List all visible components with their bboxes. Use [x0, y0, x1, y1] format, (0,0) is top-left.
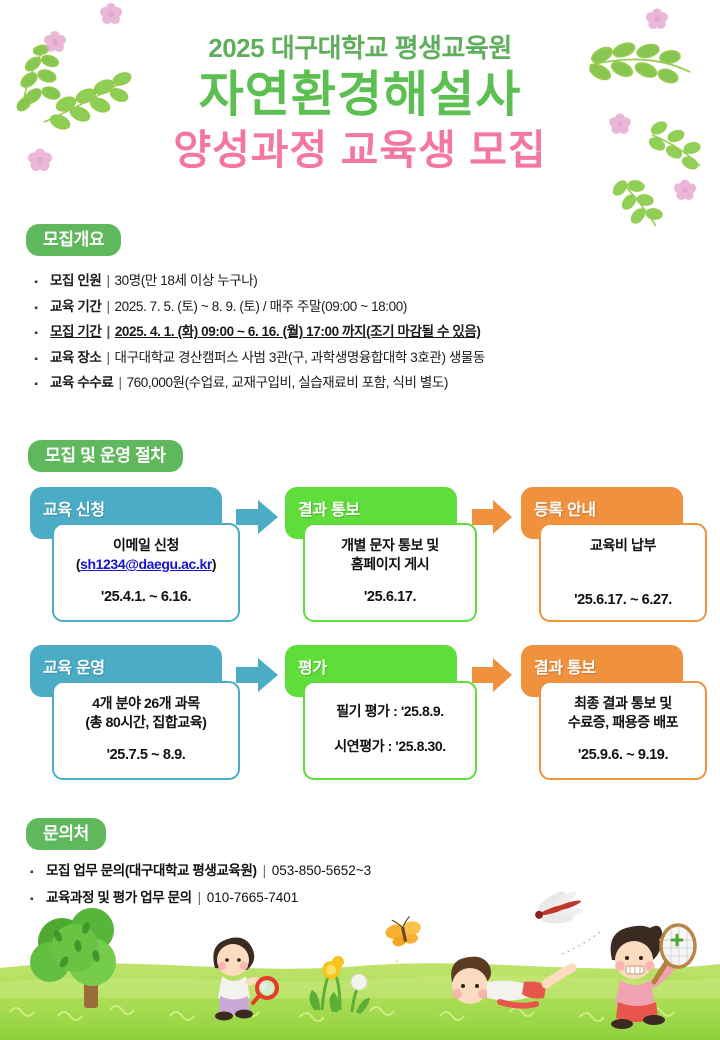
- overview-value: 대구대학교 경산캠퍼스 사범 3관(구, 과학생명융합대학 3호관) 생물동: [115, 349, 485, 367]
- arrow-right-icon-1: [236, 500, 278, 534]
- contact-label: 모집 업무 문의(대구대학교 평생교육원): [46, 862, 257, 880]
- process-step-line: 최종 결과 통보 및: [547, 694, 699, 713]
- overview-label: 교육 기간: [50, 298, 101, 316]
- process-step-body: 교육비 납부 '25.6.17. ~ 6.27.: [539, 523, 707, 622]
- overview-item-capacity: ▪ 모집 인원 | 30명(만 18세 이상 누구나): [22, 272, 702, 290]
- section-header-overview: 모집개요: [26, 224, 121, 256]
- paren-close: ): [212, 556, 216, 572]
- overview-separator: |: [106, 349, 109, 367]
- process-step-body: 이메일 신청 (sh1234@daegu.ac.kr) '25.4.1. ~ 6…: [52, 523, 240, 622]
- title-main-line: 자연환경해설사: [0, 67, 720, 123]
- arrow-right-icon-3: [236, 658, 278, 692]
- overview-separator: |: [118, 374, 121, 392]
- overview-label: 모집 기간: [50, 323, 101, 341]
- process-step-result-notice: 결과 통보 개별 문자 통보 및 홈페이지 게시 '25.6.17.: [285, 487, 457, 622]
- contact-separator: |: [263, 862, 266, 880]
- overview-item-application-period: ▪ 모집 기간 | 2025. 4. 1. (화) 09:00 ~ 6. 16.…: [22, 323, 702, 341]
- process-step-body: 4개 분야 26개 과목 (총 80시간, 집합교육) '25.7.5 ~ 8.…: [52, 681, 240, 780]
- process-step-dates: '25.7.5 ~ 8.9.: [60, 746, 232, 766]
- overview-label: 모집 인원: [50, 272, 101, 290]
- title-subtitle: 2025 대구대학교 평생교육원: [0, 34, 720, 63]
- overview-separator: |: [106, 323, 109, 341]
- process-step-email-line: (sh1234@daegu.ac.kr): [60, 555, 232, 574]
- arrow-right-icon-2: [472, 500, 512, 534]
- overview-item-fee: ▪ 교육 수수료 | 760,000원(수업료, 교재구입비, 실습재료비 포함…: [22, 374, 702, 392]
- dragonfly-trail: [562, 932, 600, 954]
- contact-phone: 010-7665-7401: [207, 889, 299, 907]
- process-step-line: 4개 분야 26개 과목: [60, 694, 232, 713]
- arrow-right-icon-4: [472, 658, 512, 692]
- contact-item-curriculum: ▪ 교육과정 및 평가 업무 문의 | 010-7665-7401: [30, 889, 371, 907]
- overview-list: ▪ 모집 인원 | 30명(만 18세 이상 누구나) ▪ 교육 기간 | 20…: [22, 272, 702, 400]
- process-step-line: 필기 평가 : '25.8.9.: [311, 702, 469, 721]
- bullet-icon: ▪: [22, 378, 50, 391]
- process-step-dates: '25.6.17.: [311, 588, 469, 608]
- bullet-icon: ▪: [22, 276, 50, 289]
- overview-value: 760,000원(수업료, 교재구입비, 실습재료비 포함, 식비 별도): [127, 374, 448, 392]
- bullet-icon: ▪: [22, 302, 50, 315]
- contact-list: ▪ 모집 업무 문의(대구대학교 평생교육원) | 053-850-5652~3…: [30, 862, 371, 915]
- overview-value: 2025. 4. 1. (화) 09:00 ~ 6. 16. (월) 17:00…: [115, 323, 481, 341]
- overview-item-location: ▪ 교육 장소 | 대구대학교 경산캠퍼스 사범 3관(구, 과학생명융합대학 …: [22, 349, 702, 367]
- process-step-body: 개별 문자 통보 및 홈페이지 게시 '25.6.17.: [303, 523, 477, 622]
- overview-item-training-period: ▪ 교육 기간 | 2025. 7. 5. (토) ~ 8. 9. (토) / …: [22, 298, 702, 316]
- process-step-line: (총 80시간, 집합교육): [60, 713, 232, 732]
- process-step-dates: '25.9.6. ~ 9.19.: [547, 746, 699, 766]
- contact-phone: 053-850-5652~3: [272, 862, 371, 880]
- section-header-contact: 문의처: [26, 818, 106, 850]
- process-step-operation: 교육 운영 4개 분야 26개 과목 (총 80시간, 집합교육) '25.7.…: [30, 645, 222, 780]
- process-step-body: 최종 결과 통보 및 수료증, 패용증 배포 '25.9.6. ~ 9.19.: [539, 681, 707, 780]
- section-header-process: 모집 및 운영 절차: [28, 440, 183, 472]
- email-link[interactable]: sh1234@daegu.ac.kr: [80, 556, 212, 572]
- title-secondary-line: 양성과정 교육생 모집: [0, 126, 720, 175]
- bullet-icon: ▪: [22, 327, 50, 340]
- process-step-body: 필기 평가 : '25.8.9. 시연평가 : '25.8.30.: [303, 681, 477, 780]
- process-step-dates: '25.6.17. ~ 6.27.: [547, 591, 699, 611]
- process-step-apply: 교육 신청 이메일 신청 (sh1234@daegu.ac.kr) '25.4.…: [30, 487, 222, 622]
- overview-label: 교육 장소: [50, 349, 101, 367]
- contact-label: 교육과정 및 평가 업무 문의: [46, 889, 192, 907]
- overview-separator: |: [106, 298, 109, 316]
- overview-value: 2025. 7. 5. (토) ~ 8. 9. (토) / 매주 주말(09:0…: [115, 298, 407, 316]
- overview-separator: |: [106, 272, 109, 290]
- process-step-line: 이메일 신청: [60, 536, 232, 555]
- overview-label: 교육 수수료: [50, 374, 113, 392]
- process-step-line: 개별 문자 통보 및: [311, 536, 469, 555]
- contact-item-recruitment: ▪ 모집 업무 문의(대구대학교 평생교육원) | 053-850-5652~3: [30, 862, 371, 880]
- bullet-icon: ▪: [30, 893, 46, 906]
- process-step-registration: 등록 안내 교육비 납부 '25.6.17. ~ 6.27.: [521, 487, 683, 622]
- process-step-line: 수료증, 패용증 배포: [547, 713, 699, 732]
- process-step-line: 교육비 납부: [547, 536, 699, 555]
- process-step-line: 홈페이지 게시: [311, 555, 469, 574]
- overview-value: 30명(만 18세 이상 누구나): [115, 272, 258, 290]
- dragonfly-illustration: [530, 890, 587, 933]
- poster-title-block: 2025 대구대학교 평생교육원 자연환경해설사 양성과정 교육생 모집: [0, 34, 720, 175]
- contact-separator: |: [198, 889, 201, 907]
- poster-root: 2025 대구대학교 평생교육원 자연환경해설사 양성과정 교육생 모집 모집개…: [0, 0, 720, 1040]
- bullet-icon: ▪: [30, 866, 46, 879]
- process-step-line: 시연평가 : '25.8.30.: [311, 737, 469, 756]
- process-step-evaluation: 평가 필기 평가 : '25.8.9. 시연평가 : '25.8.30.: [285, 645, 457, 780]
- process-step-dates: '25.4.1. ~ 6.16.: [60, 588, 232, 608]
- process-step-final-result: 결과 통보 최종 결과 통보 및 수료증, 패용증 배포 '25.9.6. ~ …: [521, 645, 683, 780]
- bullet-icon: ▪: [22, 353, 50, 366]
